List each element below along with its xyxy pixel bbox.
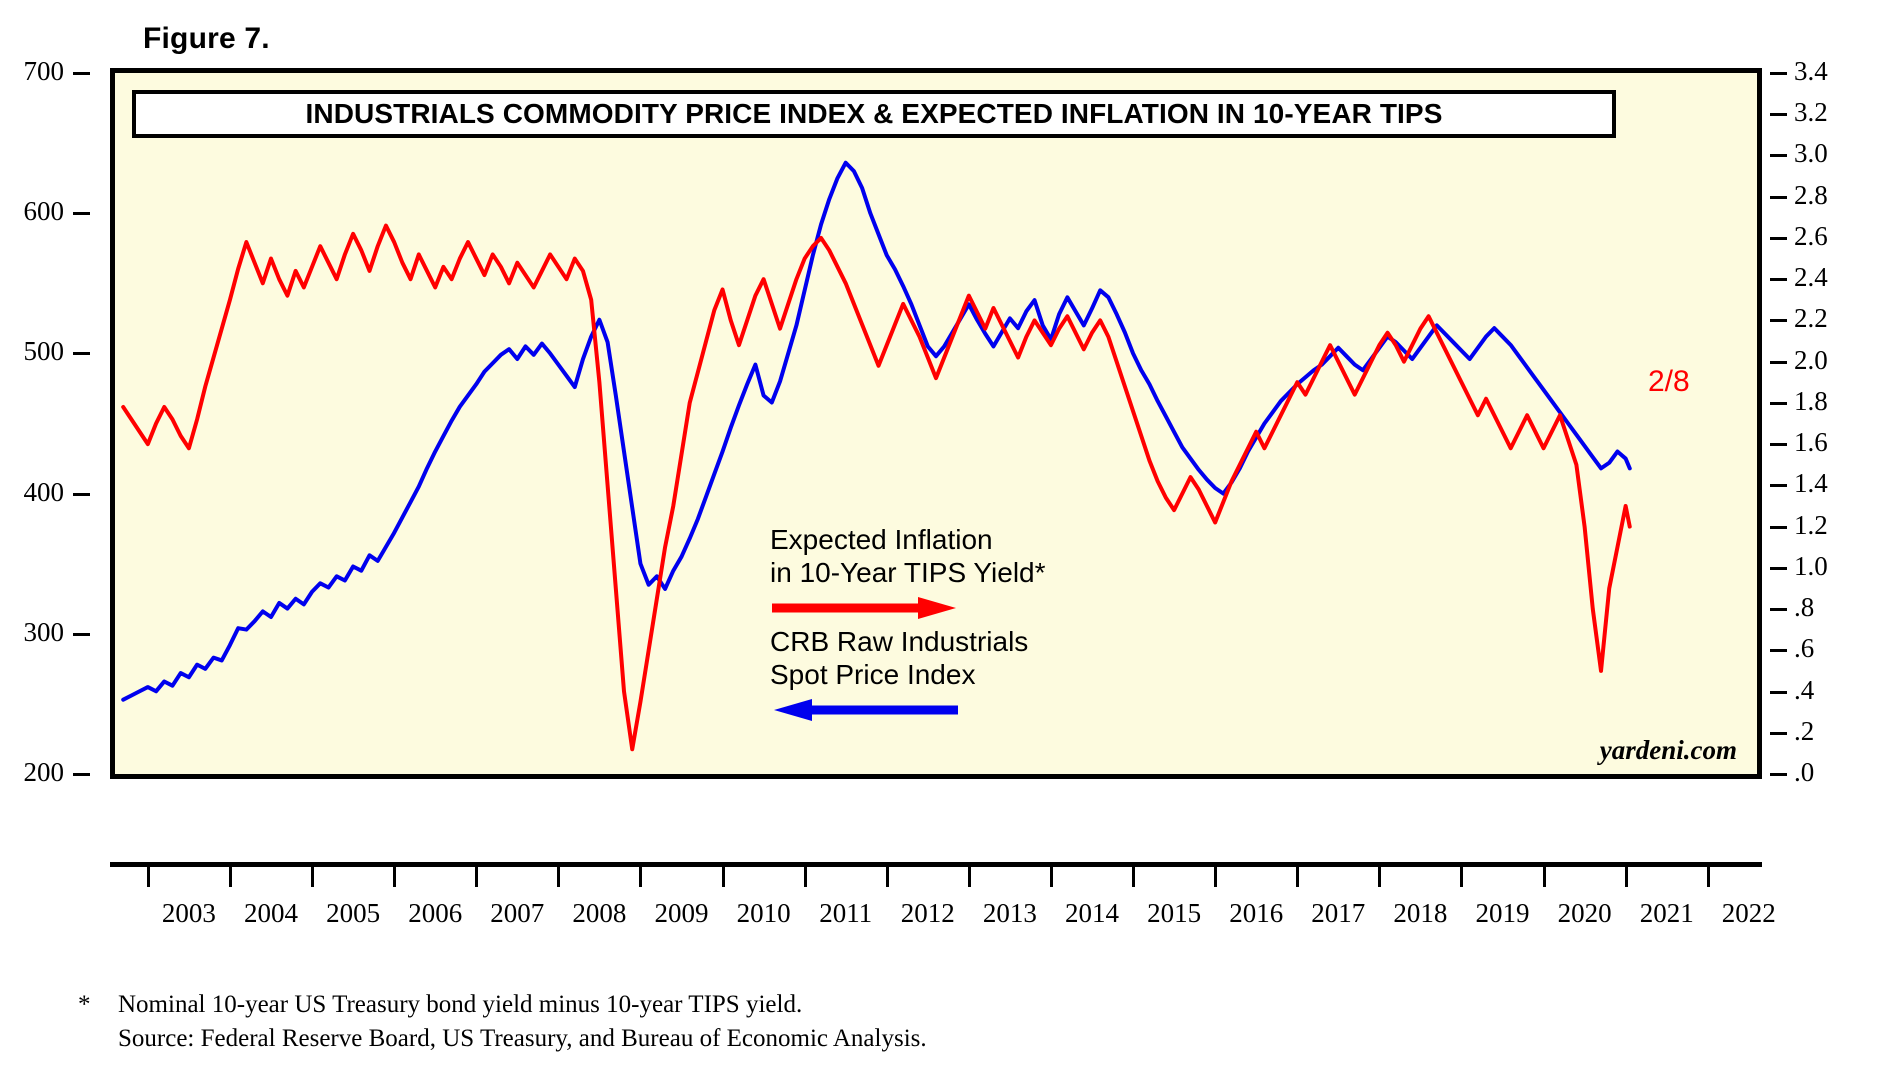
x-axis-tick-label: 2021 (1640, 898, 1694, 929)
x-axis-tick (1543, 866, 1546, 887)
x-axis-tick (557, 866, 560, 887)
annotation-ei-line1: Expected Inflation (770, 523, 1046, 556)
red-right-arrow-icon (770, 595, 960, 621)
blue-left-arrow-icon (770, 697, 960, 723)
annotation-crb: CRB Raw Industrials Spot Price Index (770, 625, 1028, 691)
x-axis-tick-label: 2012 (901, 898, 955, 929)
x-axis-tick-label: 2009 (654, 898, 708, 929)
x-axis-tick (1132, 866, 1135, 887)
annotation-crb-line1: CRB Raw Industrials (770, 625, 1028, 658)
x-axis-tick-label: 2006 (408, 898, 462, 929)
x-axis-tick-label: 2010 (737, 898, 791, 929)
x-axis-baseline (110, 862, 1762, 867)
x-axis-tick-label: 2018 (1393, 898, 1447, 929)
x-axis-tick (1214, 866, 1217, 887)
x-axis-tick-label: 2022 (1722, 898, 1776, 929)
annotation-crb-line2: Spot Price Index (770, 658, 1028, 691)
x-axis-tick-label: 2004 (244, 898, 298, 929)
x-axis-tick-label: 2008 (572, 898, 626, 929)
x-axis-tick (475, 866, 478, 887)
x-axis-tick (804, 866, 807, 887)
x-axis-tick-label: 2005 (326, 898, 380, 929)
chart-title-box: INDUSTRIALS COMMODITY PRICE INDEX & EXPE… (132, 90, 1616, 138)
x-axis-tick (311, 866, 314, 887)
chart-title: INDUSTRIALS COMMODITY PRICE INDEX & EXPE… (306, 98, 1443, 130)
x-axis-tick (1460, 866, 1463, 887)
x-axis-tick (968, 866, 971, 887)
x-axis-tick (886, 866, 889, 887)
annotation-expected-inflation: Expected Inflation in 10-Year TIPS Yield… (770, 523, 1046, 589)
x-axis-tick-label: 2019 (1475, 898, 1529, 929)
footnote-marker: * (78, 988, 118, 1022)
x-axis-tick-label: 2016 (1229, 898, 1283, 929)
footnote-row-1: * Nominal 10-year US Treasury bond yield… (78, 988, 1478, 1022)
x-axis-tick (1625, 866, 1628, 887)
x-axis-tick-label: 2015 (1147, 898, 1201, 929)
annotation-ei-line2: in 10-Year TIPS Yield* (770, 556, 1046, 589)
footnote-spacer (78, 1022, 118, 1056)
footnotes: * Nominal 10-year US Treasury bond yield… (78, 988, 1478, 1056)
x-axis-tick-label: 2011 (819, 898, 872, 929)
last-value-label: 2/8 (1648, 365, 1690, 399)
plot-area: INDUSTRIALS COMMODITY PRICE INDEX & EXPE… (110, 68, 1762, 779)
x-axis-tick (229, 866, 232, 887)
x-axis-tick (1050, 866, 1053, 887)
x-axis-tick-label: 2007 (490, 898, 544, 929)
footnote-row-2: Source: Federal Reserve Board, US Treasu… (78, 1022, 1478, 1056)
x-axis-tick (147, 866, 150, 887)
x-axis-tick (722, 866, 725, 887)
x-axis-tick-label: 2003 (162, 898, 216, 929)
x-axis-tick-label: 2020 (1558, 898, 1612, 929)
footnote-text-1: Nominal 10-year US Treasury bond yield m… (118, 988, 1478, 1022)
x-axis-tick-label: 2013 (983, 898, 1037, 929)
x-axis-tick (1296, 866, 1299, 887)
watermark: yardeni.com (1600, 735, 1737, 766)
figure-root: Figure 7. 200300400500600700 .0.2.4.6.81… (0, 0, 1882, 1075)
x-axis-tick (639, 866, 642, 887)
x-axis-tick-label: 2014 (1065, 898, 1119, 929)
footnote-text-2: Source: Federal Reserve Board, US Treasu… (118, 1022, 1478, 1056)
x-axis-tick (1707, 866, 1710, 887)
x-axis-tick (393, 866, 396, 887)
x-axis-tick (1378, 866, 1381, 887)
x-axis-tick-label: 2017 (1311, 898, 1365, 929)
